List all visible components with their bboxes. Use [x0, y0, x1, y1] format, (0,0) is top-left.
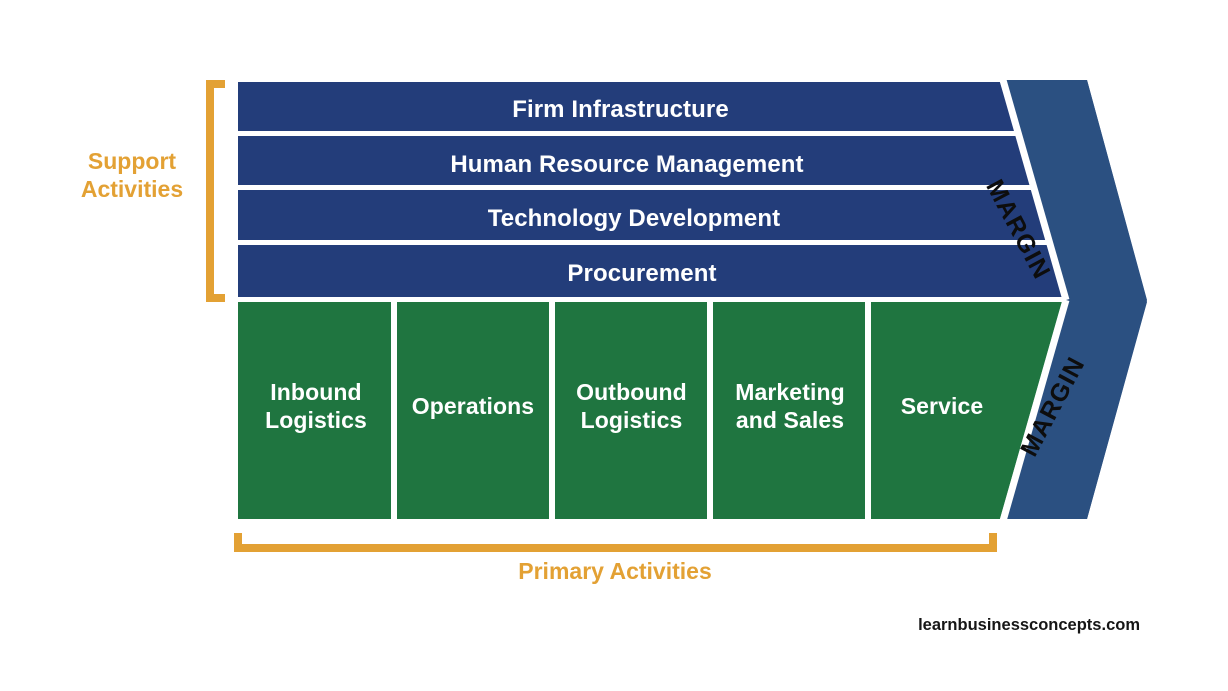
site-credit: learnbusinessconcepts.com	[918, 616, 1140, 635]
value-chain-svg	[0, 0, 1228, 691]
support-caption-line-1: Support	[62, 148, 202, 176]
primary-column-4[interactable]	[713, 302, 865, 519]
support-bar-4[interactable]	[238, 245, 1064, 297]
primary-activities-caption: Primary Activities	[380, 558, 850, 586]
support-bar-2[interactable]	[238, 136, 1031, 185]
support-bar-1[interactable]	[238, 82, 1015, 131]
support-bracket	[210, 84, 225, 298]
support-caption-line-2: Activities	[62, 176, 202, 204]
primary-column-3[interactable]	[555, 302, 707, 519]
primary-columns-group	[238, 302, 1062, 519]
value-chain-diagram: Firm Infrastructure Human Resource Manag…	[0, 0, 1228, 691]
primary-column-1[interactable]	[238, 302, 391, 519]
support-activities-caption: Support Activities	[62, 148, 202, 203]
support-bar-3[interactable]	[238, 190, 1047, 240]
support-bars-group	[238, 82, 1064, 297]
primary-bracket	[238, 533, 993, 548]
primary-column-2[interactable]	[397, 302, 549, 519]
